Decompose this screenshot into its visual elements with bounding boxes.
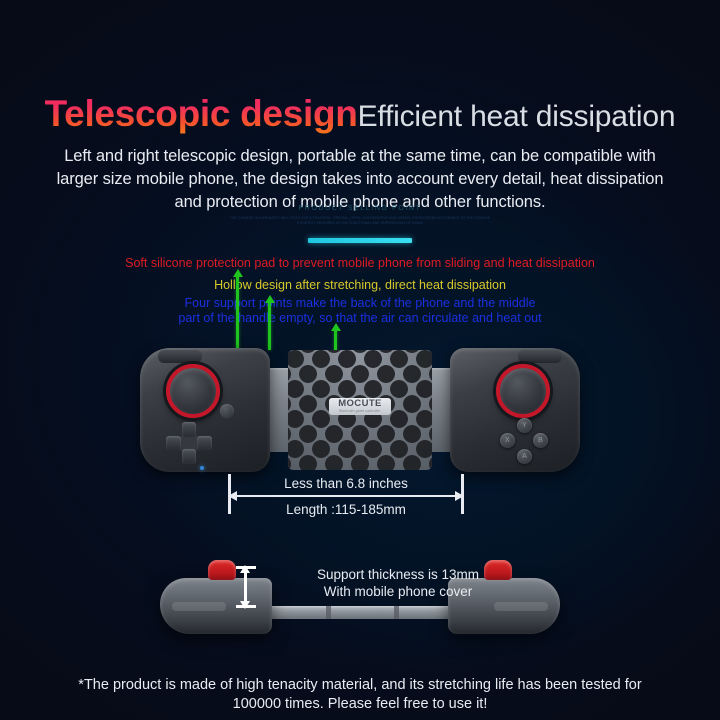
dpad bbox=[166, 422, 212, 464]
dimension-arrow-line bbox=[236, 495, 456, 497]
face-button-cluster: Y X B A bbox=[500, 418, 548, 464]
shoulder-button-left bbox=[158, 350, 202, 363]
title-secondary: Efficient heat dissipation bbox=[358, 100, 676, 133]
annotation-silicone-pad: Soft silicone protection pad to prevent … bbox=[0, 256, 720, 271]
dimension-thickness bbox=[236, 566, 256, 608]
section-divider bbox=[308, 238, 412, 243]
annotation-support-points-line1: Four support points make the back of the… bbox=[0, 296, 720, 311]
annotation-hollow-design: Hollow design after stretching, direct h… bbox=[0, 278, 720, 293]
watermark-label: PRODUCT SELLING POINT bbox=[0, 205, 720, 212]
side-grip-highlight-right bbox=[494, 602, 548, 611]
side-analog-stick-left bbox=[208, 560, 236, 580]
face-button-y: Y bbox=[517, 418, 532, 433]
intro-paragraph: Left and right telescopic design, portab… bbox=[50, 145, 670, 214]
dimension-thickness-labels: Support thickness is 13mm With mobile ph… bbox=[268, 566, 528, 600]
analog-stick-right bbox=[496, 364, 550, 418]
face-button-x: X bbox=[500, 433, 515, 448]
dpad-down bbox=[182, 449, 196, 464]
face-button-b: B bbox=[533, 433, 548, 448]
shoulder-button-right bbox=[518, 350, 562, 363]
side-telescopic-bridge bbox=[266, 606, 454, 619]
bridge-segment-1 bbox=[326, 606, 331, 619]
page-title: Telescopic designEfficient heat dissipat… bbox=[0, 95, 720, 132]
analog-stick-left bbox=[166, 364, 220, 418]
brand-name: MOCUTE bbox=[329, 398, 391, 409]
honeycomb-phone-holder: MOCUTE Bluetooth game controller bbox=[288, 350, 432, 470]
thickness-arrow-line bbox=[244, 572, 247, 602]
dimension-thickness-label-top: Support thickness is 13mm bbox=[268, 566, 528, 583]
face-button-a: A bbox=[517, 449, 532, 464]
footer-disclaimer: *The product is made of high tenacity ma… bbox=[60, 676, 660, 714]
dpad-left bbox=[166, 436, 181, 450]
dpad-right bbox=[197, 436, 212, 450]
status-led bbox=[200, 466, 204, 470]
annotation-support-points-line2: part of the handle empty, so that the ai… bbox=[0, 311, 720, 326]
decorative-microtext: THE CHINESE GOVERNMENT WILL PUSH FOR A P… bbox=[0, 216, 720, 226]
dimension-width-label-top: Less than 6.8 inches bbox=[228, 476, 464, 491]
dimension-width: Less than 6.8 inches Length :115-185mm bbox=[228, 470, 464, 518]
gamepad-grip-right: Y X B A bbox=[450, 348, 580, 472]
brand-tagline: Bluetooth game controller bbox=[329, 409, 391, 413]
gamepad-grip-left bbox=[140, 348, 270, 472]
microtext-line-2: STRATEGY REQUIRED IN THE FUNCTIONAL AND … bbox=[0, 221, 720, 226]
bridge-segment-2 bbox=[394, 606, 399, 619]
gamepad-top-view: MOCUTE Bluetooth game controller Y X bbox=[140, 340, 580, 480]
brand-plate: MOCUTE Bluetooth game controller bbox=[329, 398, 391, 415]
infographic-page: Telescopic designEfficient heat dissipat… bbox=[0, 0, 720, 720]
dimension-width-label-bottom: Length :115-185mm bbox=[228, 502, 464, 517]
side-grip-highlight-left bbox=[172, 602, 226, 611]
title-primary: Telescopic design bbox=[45, 93, 358, 134]
dimension-thickness-label-bottom: With mobile phone cover bbox=[268, 583, 528, 600]
select-button bbox=[220, 404, 234, 418]
pointer-arrow-left bbox=[236, 276, 239, 350]
dpad-up bbox=[182, 422, 196, 437]
